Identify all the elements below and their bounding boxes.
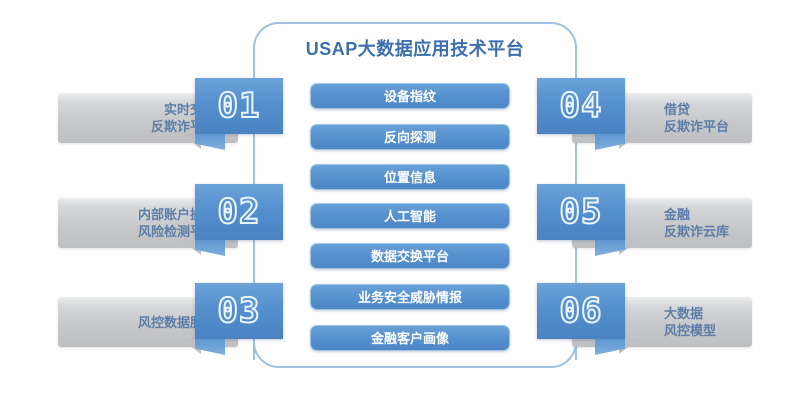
node-number-06: 06: [537, 283, 625, 339]
node-number-01: 01: [195, 78, 283, 134]
node-label-05-line1: 金融: [664, 206, 690, 223]
platform-item-1[interactable]: 设备指纹: [310, 83, 510, 109]
node-badge-03[interactable]: 03: [195, 283, 283, 339]
platform-item-4[interactable]: 人工智能: [310, 203, 510, 229]
node-label-06-line2: 风控模型: [664, 322, 716, 339]
node-number-05: 05: [537, 184, 625, 240]
node-badge-01[interactable]: 01: [195, 78, 283, 134]
platform-item-7[interactable]: 金融客户画像: [310, 325, 510, 351]
node-label-04-line1: 借贷: [664, 101, 690, 118]
node-label-04-line2: 反欺诈平台: [664, 118, 729, 135]
node-label-05-line2: 反欺诈云库: [664, 223, 729, 240]
platform-item-6[interactable]: 业务安全威胁情报: [310, 284, 510, 310]
platform-title: USAP大数据应用技术平台: [253, 36, 577, 62]
platform-item-2[interactable]: 反向探测: [310, 124, 510, 150]
diagram-canvas: USAP大数据应用技术平台 设备指纹 反向探测 位置信息 人工智能 数据交换平台…: [0, 0, 810, 400]
node-label-06-line1: 大数据: [664, 305, 703, 322]
platform-frame: [253, 22, 577, 368]
node-badge-06[interactable]: 06: [537, 283, 625, 339]
node-badge-02[interactable]: 02: [195, 184, 283, 240]
node-number-02: 02: [195, 184, 283, 240]
node-number-04: 04: [537, 78, 625, 134]
node-badge-04[interactable]: 04: [537, 78, 625, 134]
node-badge-05[interactable]: 05: [537, 184, 625, 240]
platform-item-3[interactable]: 位置信息: [310, 164, 510, 190]
node-number-03: 03: [195, 283, 283, 339]
platform-item-5[interactable]: 数据交换平台: [310, 243, 510, 269]
